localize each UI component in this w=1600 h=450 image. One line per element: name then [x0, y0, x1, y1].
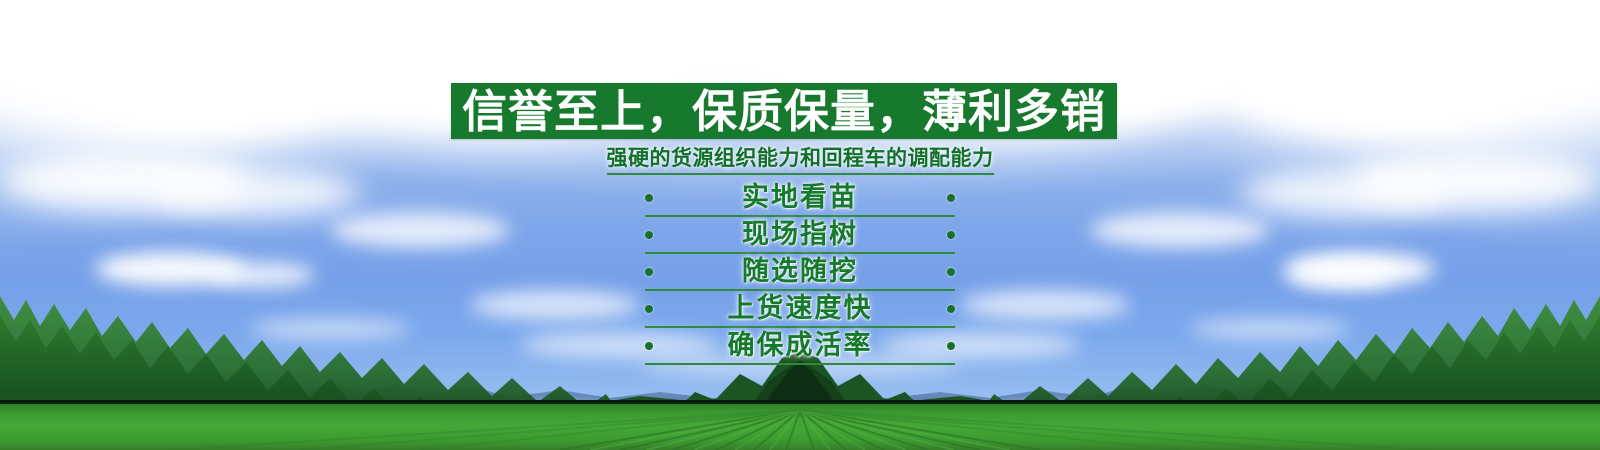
headline-text: 信誉至上，保质保量，薄利多销	[462, 89, 1106, 134]
promo-banner: 信誉至上，保质保量，薄利多销 强硬的货源组织能力和回程车的调配能力 实地看苗 现…	[0, 0, 1600, 450]
subtitle-text: 强硬的货源组织能力和回程车的调配能力	[607, 145, 994, 175]
bullet-dot-icon	[645, 194, 653, 202]
bullet-dot-icon	[947, 268, 955, 276]
bullet-dot-icon	[645, 268, 653, 276]
bullet-dot-icon	[947, 305, 955, 313]
feature-label: 上货速度快	[653, 294, 947, 324]
text-overlay: 信誉至上，保质保量，薄利多销 强硬的货源组织能力和回程车的调配能力 实地看苗 现…	[0, 0, 1600, 450]
bullet-dot-icon	[947, 342, 955, 350]
feature-item: 确保成活率	[645, 329, 955, 365]
bullet-dot-icon	[645, 305, 653, 313]
bullet-dot-icon	[947, 231, 955, 239]
feature-label: 实地看苗	[653, 183, 947, 213]
subtitle: 强硬的货源组织能力和回程车的调配能力	[0, 145, 1600, 175]
headline-banner: 信誉至上，保质保量，薄利多销	[451, 83, 1117, 139]
bullet-dot-icon	[645, 231, 653, 239]
feature-label: 现场指树	[653, 220, 947, 250]
feature-item: 实地看苗	[645, 181, 955, 217]
feature-item: 随选随挖	[645, 255, 955, 291]
bullet-dot-icon	[645, 342, 653, 350]
feature-item: 上货速度快	[645, 292, 955, 328]
feature-label: 随选随挖	[653, 257, 947, 287]
feature-label: 确保成活率	[653, 331, 947, 361]
feature-item: 现场指树	[645, 218, 955, 254]
bullet-dot-icon	[947, 194, 955, 202]
feature-list: 实地看苗 现场指树 随选随挖 上货速度快 确保成活率	[0, 181, 1600, 366]
